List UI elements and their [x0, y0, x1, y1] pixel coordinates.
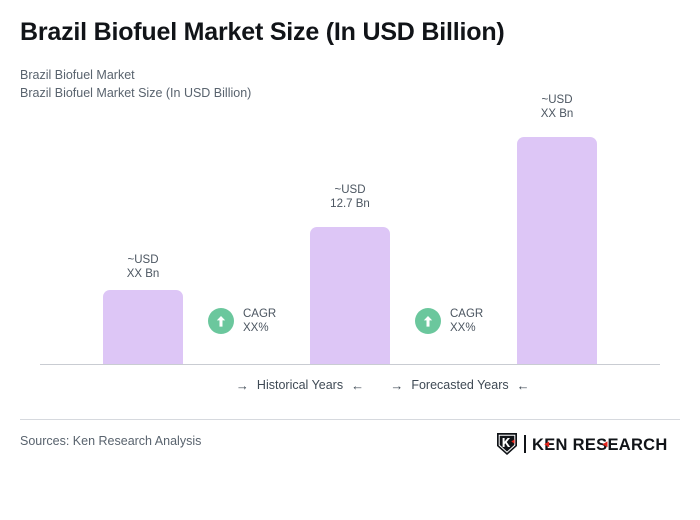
ken-research-wordmark: KEN RESEARCH — [532, 435, 680, 454]
bar-label-forecast-line1: ~USD — [507, 93, 607, 107]
cagr-marker-historical[interactable]: CAGR XX% — [208, 307, 276, 335]
cagr-label-forecast-line2: XX% — [450, 321, 483, 335]
bar-label-historical-line2: XX Bn — [93, 267, 193, 281]
chart-baseline-axis — [40, 364, 660, 365]
bar-current[interactable] — [310, 227, 390, 364]
bar-label-current-line1: ~USD — [300, 183, 400, 197]
cagr-label-forecast: CAGR XX% — [450, 307, 483, 335]
ken-research-logo: KEN RESEARCH — [496, 432, 680, 456]
arrow-left-icon: ← — [517, 379, 530, 392]
arrow-right-icon: → — [390, 379, 403, 392]
arrow-up-icon — [208, 308, 234, 334]
period-band-historical-label: Historical Years — [257, 378, 343, 392]
cagr-label-historical: CAGR XX% — [243, 307, 276, 335]
bar-label-current-line2: 12.7 Bn — [300, 197, 400, 211]
bar-label-historical: ~USD XX Bn — [93, 253, 193, 281]
svg-text:KEN RESEARCH: KEN RESEARCH — [532, 436, 668, 454]
logo-separator — [524, 435, 526, 453]
arrow-right-icon: → — [236, 379, 249, 392]
bar-label-current: ~USD 12.7 Bn — [300, 183, 400, 211]
arrow-up-icon — [415, 308, 441, 334]
cagr-label-historical-line1: CAGR — [243, 307, 276, 321]
cagr-label-forecast-line1: CAGR — [450, 307, 483, 321]
shield-logo-icon — [496, 432, 518, 456]
bar-label-forecast: ~USD XX Bn — [507, 93, 607, 121]
period-bands-legend: → Historical Years ← → Forecasted Years … — [40, 378, 660, 398]
cagr-marker-forecast[interactable]: CAGR XX% — [415, 307, 483, 335]
footer-divider — [20, 419, 680, 420]
cagr-label-historical-line2: XX% — [243, 321, 276, 335]
bar-label-historical-line1: ~USD — [93, 253, 193, 267]
chart-plot-area: ~USD XX Bn ~USD 12.7 Bn ~USD XX Bn CAGR … — [0, 0, 700, 370]
period-band-forecasted-label: Forecasted Years — [411, 378, 508, 392]
period-band-forecasted: → Forecasted Years ← — [350, 378, 570, 392]
bar-forecast[interactable] — [517, 137, 597, 364]
bar-historical[interactable] — [103, 290, 183, 364]
sources-note: Sources: Ken Research Analysis — [20, 434, 201, 448]
chart-page: Brazil Biofuel Market Size (In USD Billi… — [0, 0, 700, 520]
bar-label-forecast-line2: XX Bn — [507, 107, 607, 121]
